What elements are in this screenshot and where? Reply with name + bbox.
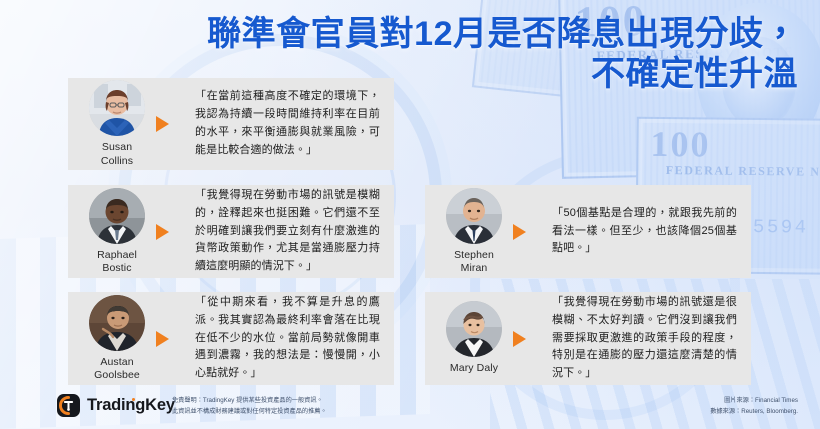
person-name-first: Austan [100, 356, 133, 368]
disclaimer-line-2: 此資訊並不構成財務建議或對任何特定投資產品的推薦。 [172, 407, 327, 418]
quote-text: 「我覺得現在勞動市場的訊號是模糊的，詮釋起來也挺困難。它們還不至於明確到讓我們要… [195, 187, 380, 276]
person-name-first: Stephen [454, 249, 494, 261]
brand-logo: TradingKey [57, 394, 175, 417]
person-name-first: Raphael [97, 249, 137, 261]
avatar [89, 295, 145, 351]
avatar [89, 80, 145, 136]
person-name: Stephen Miran [454, 249, 494, 275]
avatar [446, 301, 502, 357]
person-block: Mary Daly [437, 301, 511, 375]
quote-arrow-icon [156, 224, 187, 240]
avatar [446, 188, 502, 244]
image-source-line: 圖片來源：Financial Times [710, 396, 798, 407]
quote-text: 「我覺得現在勞動市場的訊號還是很模糊、不太好判讀。它們沒到讓我們需要採取更激進的… [552, 294, 737, 383]
person-block: Stephen Miran [437, 188, 511, 275]
person-name: Raphael Bostic [97, 249, 137, 275]
quote-card-raphael-bostic: Raphael Bostic 「我覺得現在勞動市場的訊號是模糊的，詮釋起來也挺困… [68, 185, 394, 278]
person-name: Austan Goolsbee [94, 356, 140, 382]
sources-text: 圖片來源：Financial Times 數據來源：Reuters, Bloom… [710, 396, 798, 418]
quote-card-mary-daly: Mary Daly 「我覺得現在勞動市場的訊號還是很模糊、不太好判讀。它們沒到讓… [425, 292, 751, 385]
quote-arrow-icon [513, 224, 544, 240]
quote-card-austan-goolsbee: Austan Goolsbee 「從中期來看，我不算是升息的鷹派。我其實認為最終… [68, 292, 394, 385]
data-source-line: 數據來源：Reuters, Bloomberg. [710, 407, 798, 418]
person-block: Raphael Bostic [80, 188, 154, 275]
quote-card-stephen-miran: Stephen Miran 「50個基點是合理的，就跟我先前的看法一樣。但至少，… [425, 185, 751, 278]
person-name-last: Bostic [102, 262, 131, 274]
quote-text: 「從中期來看，我不算是升息的鷹派。我其實認為最終利率會落在比現在低不少的水位。當… [195, 294, 380, 383]
person-block: Susan Collins [80, 80, 154, 167]
person-name-first: Mary Daly [450, 362, 498, 374]
avatar [89, 188, 145, 244]
person-name-last: Goolsbee [94, 369, 140, 381]
brand-accent-dot-icon [132, 398, 135, 401]
person-name-last: Collins [101, 155, 133, 167]
quote-arrow-icon [513, 331, 544, 347]
footer: TradingKey 免責聲明：TradingKey 提供某些投資產品的一般資訊… [0, 385, 820, 429]
tradingkey-logo-icon [57, 394, 80, 417]
brand-name-text: TradingKey [87, 396, 175, 414]
disclaimer-text: 免責聲明：TradingKey 提供某些投資產品的一般資訊。 此資訊並不構成財務… [172, 396, 327, 418]
person-name-last: Miran [461, 262, 488, 274]
person-name: Susan Collins [101, 141, 133, 167]
infographic-canvas: 100 FEDERAL RESERVE NOTE 100 FEDERAL RES… [0, 0, 820, 429]
person-block: Austan Goolsbee [80, 295, 154, 382]
person-name-first: Susan [102, 141, 132, 153]
quote-card-susan-collins: Susan Collins 「在當前這種高度不確定的環境下，我認為持續一段時間維… [68, 78, 394, 170]
quote-text: 「在當前這種高度不確定的環境下，我認為持續一段時間維持利率在目前的水平，來平衡通… [195, 88, 380, 159]
person-name: Mary Daly [450, 362, 498, 375]
quote-arrow-icon [156, 116, 187, 132]
quote-text: 「50個基點是合理的，就跟我先前的看法一樣。但至少，也該降個25個基點吧。」 [552, 205, 737, 258]
disclaimer-line-1: 免責聲明：TradingKey 提供某些投資產品的一般資訊。 [172, 396, 327, 407]
quote-arrow-icon [156, 331, 187, 347]
brand-name: TradingKey [87, 396, 175, 415]
